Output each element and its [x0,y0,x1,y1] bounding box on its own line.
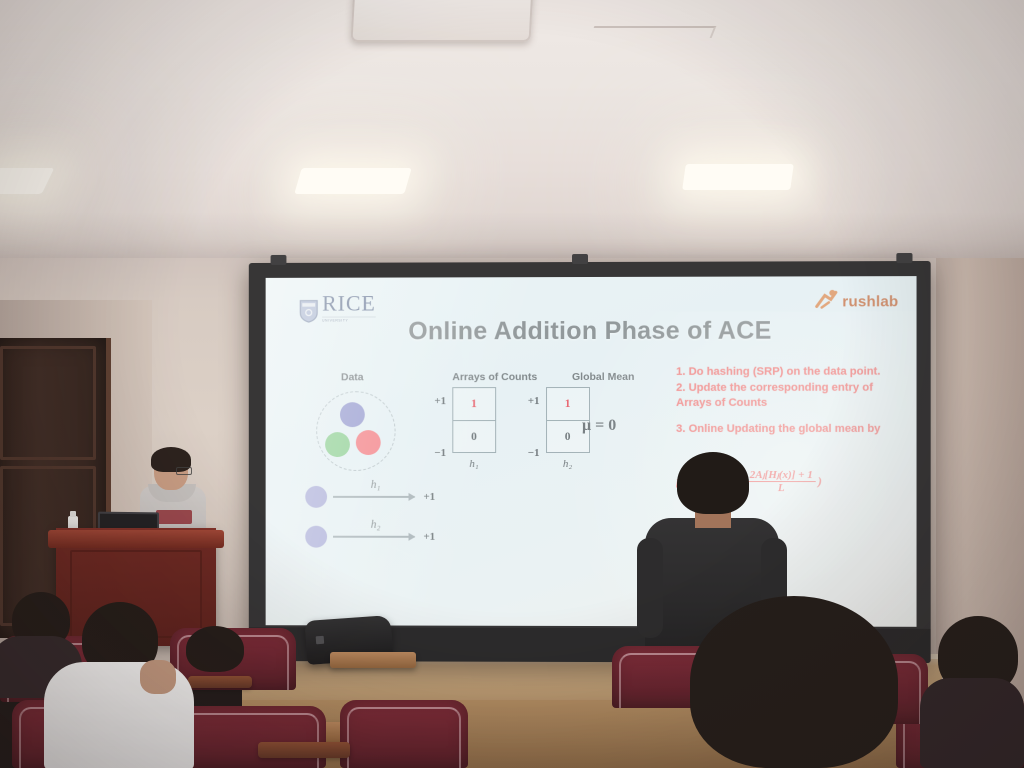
count-signs-h1: +1 −1 [434,387,446,467]
global-mean-header: Global Mean [572,371,634,383]
step-3: 3. Online Updating the global mean by [676,422,899,436]
formula-close: ) [818,474,822,489]
count-label-h2: h₂ [547,458,589,470]
hash-arrow-2: h₂ [333,536,414,538]
ceiling-light-3 [682,164,794,190]
hash-label-1: h₁ [371,479,381,491]
rushlab-logo: rushlab [814,288,898,315]
red-data-point [356,430,381,455]
screen-bracket-right [896,253,912,263]
hash-input-dot-2 [305,526,327,548]
sign-plus-h2: +1 [528,395,540,407]
presenter-hoodie-logo [156,510,192,524]
count-cell-h1-top: 1 [453,388,495,421]
count-box-h1: 1 0 h₁ [452,387,496,453]
audience-torso-right [920,678,1024,768]
green-data-point [325,432,350,457]
rice-wordmark: RICE [322,294,376,315]
slide-title: Online Addition Phase of ACE [266,316,917,346]
screen-bracket-center [572,254,588,264]
algorithm-steps: 1. Do hashing (SRP) on the data point. 2… [676,365,899,439]
audience-hand-2 [140,660,176,694]
ceiling-light-2 [294,168,411,194]
count-array-h2: +1 −1 1 0 h₂ [528,387,590,467]
hash-function-diagram: h₁ +1 h₂ +1 [305,477,435,557]
podium-top-surface [48,530,224,548]
hash-result-2: +1 [423,531,435,543]
arrays-of-counts: +1 −1 1 0 h₁ +1 −1 [434,387,589,467]
sign-plus-h1: +1 [434,395,446,407]
step-2: 2. Update the corresponding entry of Arr… [676,381,899,410]
armrest-front-left [258,742,350,758]
count-label-h1: h₁ [453,458,495,470]
armrest-mid [188,676,252,688]
data-cluster-circle [316,391,395,471]
slide-surface: RICE UNIVERSITY rushlab [266,276,917,627]
data-column-header: Data [341,371,364,383]
standing-person-left-arm [637,538,663,638]
presentation-slide: RICE UNIVERSITY rushlab [266,276,917,627]
count-signs-h2: +1 −1 [528,387,540,467]
ceiling-air-vent [351,0,534,42]
hash-input-dot-1 [305,486,327,508]
standing-person-head [677,452,749,514]
count-array-h1: +1 −1 1 0 h₁ [434,387,496,467]
rushlab-wordmark: rushlab [842,293,898,310]
sign-minus-h2: −1 [528,447,540,459]
hash-arrow-1: h₁ [333,496,414,498]
presenter-glasses [176,467,192,475]
seat-left-front-2 [176,706,326,768]
arrays-column-header: Arrays of Counts [452,371,537,383]
hash-label-2: h₂ [371,519,381,531]
seat-mid-front [340,700,468,768]
lecture-hall-photo: RICE UNIVERSITY rushlab [0,0,1024,768]
desk-right-stage [330,652,416,668]
runner-icon [814,288,840,315]
hash-result-1: +1 [423,491,435,503]
ceiling-seam [590,26,717,38]
global-mean-value: μ = 0 [582,417,616,435]
step-1: 1. Do hashing (SRP) on the data point. [676,365,899,380]
screen-bracket-left [271,255,287,265]
count-cell-h1-bottom: 0 [453,421,495,453]
blue-data-point [340,402,365,427]
hash-row-2: h₂ +1 [305,517,435,557]
audience-head-3 [186,626,244,672]
sign-minus-h1: −1 [434,447,446,459]
audience-head-foreground [690,596,898,768]
hash-row-1: h₁ +1 [305,477,435,517]
